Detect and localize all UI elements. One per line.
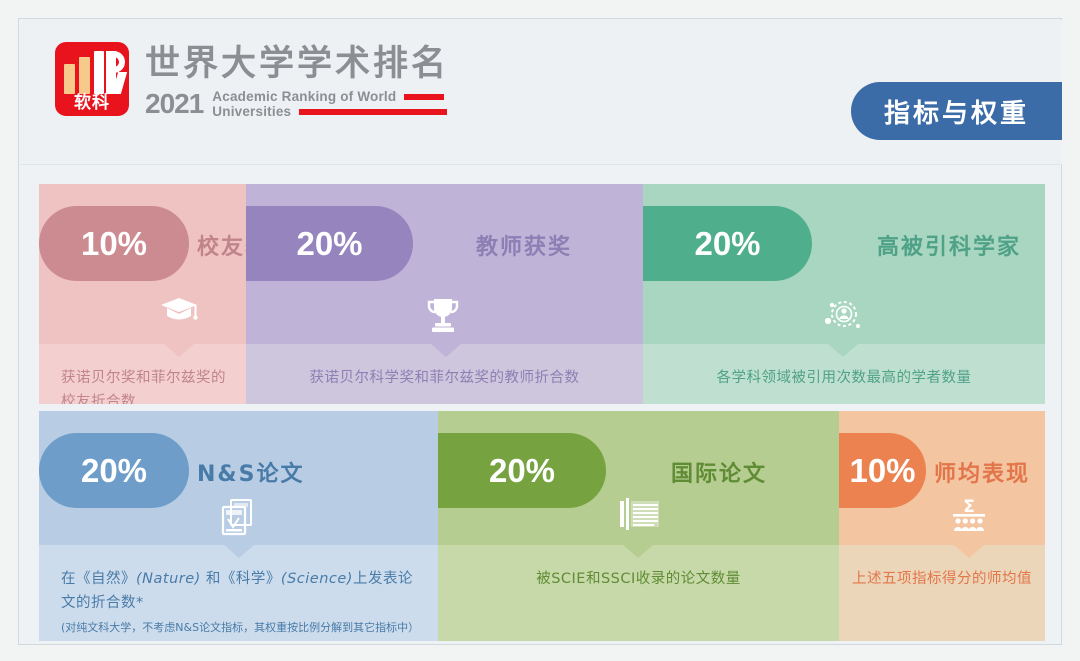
subtitle-en-line1: Academic Ranking of World: [212, 89, 396, 104]
logo-letter-r-bowl: [110, 51, 125, 73]
card-percent-value: 10%: [81, 225, 147, 263]
poster-frame: 软科 世界大学学术排名 2021 Academic Ranking of Wor…: [18, 18, 1062, 645]
card-label: 国际论文: [671, 456, 767, 488]
card-percent-pill: 20%: [246, 206, 413, 281]
card-description: 上述五项指标得分的师均值: [839, 567, 1045, 591]
journals-icon: [219, 497, 255, 533]
red-bar-short-icon: [404, 94, 444, 100]
card-description: 各学科领域被引用次数最高的学者数量: [643, 366, 1045, 390]
logo-bar-1: [64, 64, 75, 94]
section-badge[interactable]: 指标与权重: [851, 82, 1062, 140]
card-notch-icon: [431, 344, 461, 357]
card-label: 师均表现: [934, 456, 1030, 488]
card-description: 获诺贝尔科学奖和菲尔兹奖的教师折合数: [246, 366, 643, 390]
indicator-row-2: 20%N&S论文在《自然》(Nature) 和《科学》(Science)上发表论…: [39, 411, 1045, 641]
card-bottom-band: [839, 545, 1045, 641]
card-percent-value: 20%: [296, 225, 362, 263]
edition-year: 2021: [145, 89, 203, 119]
card-percent-pill: 20%: [39, 433, 189, 508]
cited-scientist-icon: [823, 296, 859, 332]
card-notch-icon: [828, 344, 858, 357]
subtitle-row: 2021 Academic Ranking of World Universit…: [145, 89, 449, 119]
subtitle-en-line2: Universities: [212, 104, 291, 119]
indicator-grid: 10%校友获奖获诺贝尔奖和菲尔兹奖的校友折合数20%教师获奖获诺贝尔科学奖和菲尔…: [39, 184, 1045, 641]
card-footnote: (对纯文科大学，不考虑N&S论文指标，其权重按比例分解到其它指标中）: [61, 621, 424, 635]
card-notch-icon: [623, 545, 653, 558]
card-percent-pill: 20%: [438, 433, 606, 508]
card-percent-value: 20%: [81, 452, 147, 490]
indicator-card[interactable]: 10%校友获奖获诺贝尔奖和菲尔兹奖的校友折合数: [39, 184, 246, 404]
indicator-card[interactable]: 20%国际论文被SCIE和SSCI收录的论文数量: [438, 411, 839, 641]
subtitle-en: Academic Ranking of World Universities: [212, 89, 447, 119]
card-description: 在《自然》(Nature) 和《科学》(Science)上发表论文的折合数*: [61, 567, 420, 615]
page-title: 世界大学学术排名: [145, 44, 449, 84]
card-percent-value: 20%: [489, 452, 555, 490]
logo-text-cn: 软科: [55, 94, 129, 112]
poster-header: 软科 世界大学学术排名 2021 Academic Ranking of Wor…: [20, 20, 1062, 165]
indicator-card[interactable]: 20%高被引科学家各学科领域被引用次数最高的学者数量: [643, 184, 1045, 404]
card-percent-value: 10%: [849, 452, 915, 490]
title-block: 世界大学学术排名 2021 Academic Ranking of World …: [145, 42, 449, 119]
card-label: 校友获奖: [197, 229, 246, 261]
red-bar-long-icon: [299, 109, 447, 115]
card-percent-pill: 10%: [839, 433, 926, 508]
card-label: N&S论文: [197, 456, 304, 488]
card-notch-icon: [224, 545, 254, 558]
graduation-cap-icon: [159, 296, 195, 332]
papers-stack-icon: [618, 497, 654, 533]
indicator-card[interactable]: 10%师均表现Σ上述五项指标得分的师均值: [839, 411, 1045, 641]
card-percent-value: 20%: [694, 225, 760, 263]
brand-block: 软科 世界大学学术排名 2021 Academic Ranking of Wor…: [55, 42, 449, 119]
indicator-row-1: 10%校友获奖获诺贝尔奖和菲尔兹奖的校友折合数20%教师获奖获诺贝尔科学奖和菲尔…: [39, 184, 1045, 404]
card-bottom-band: [438, 545, 839, 641]
card-label: 高被引科学家: [877, 229, 1021, 261]
sigma-average-icon: Σ: [949, 497, 985, 533]
card-description: 获诺贝尔奖和菲尔兹奖的校友折合数: [61, 366, 228, 404]
indicator-card[interactable]: 20%N&S论文在《自然》(Nature) 和《科学》(Science)上发表论…: [39, 411, 438, 641]
trophy-icon: [426, 296, 462, 332]
card-description: 被SCIE和SSCI收录的论文数量: [438, 567, 839, 591]
shanghai-ranking-logo: 软科: [55, 42, 129, 116]
card-notch-icon: [954, 545, 984, 558]
logo-bar-3: [94, 51, 104, 94]
logo-bar-2: [79, 57, 90, 94]
card-notch-icon: [164, 344, 194, 357]
indicator-card[interactable]: 20%教师获奖获诺贝尔科学奖和菲尔兹奖的教师折合数: [246, 184, 643, 404]
card-label: 教师获奖: [476, 229, 572, 261]
card-percent-pill: 10%: [39, 206, 189, 281]
card-percent-pill: 20%: [643, 206, 812, 281]
